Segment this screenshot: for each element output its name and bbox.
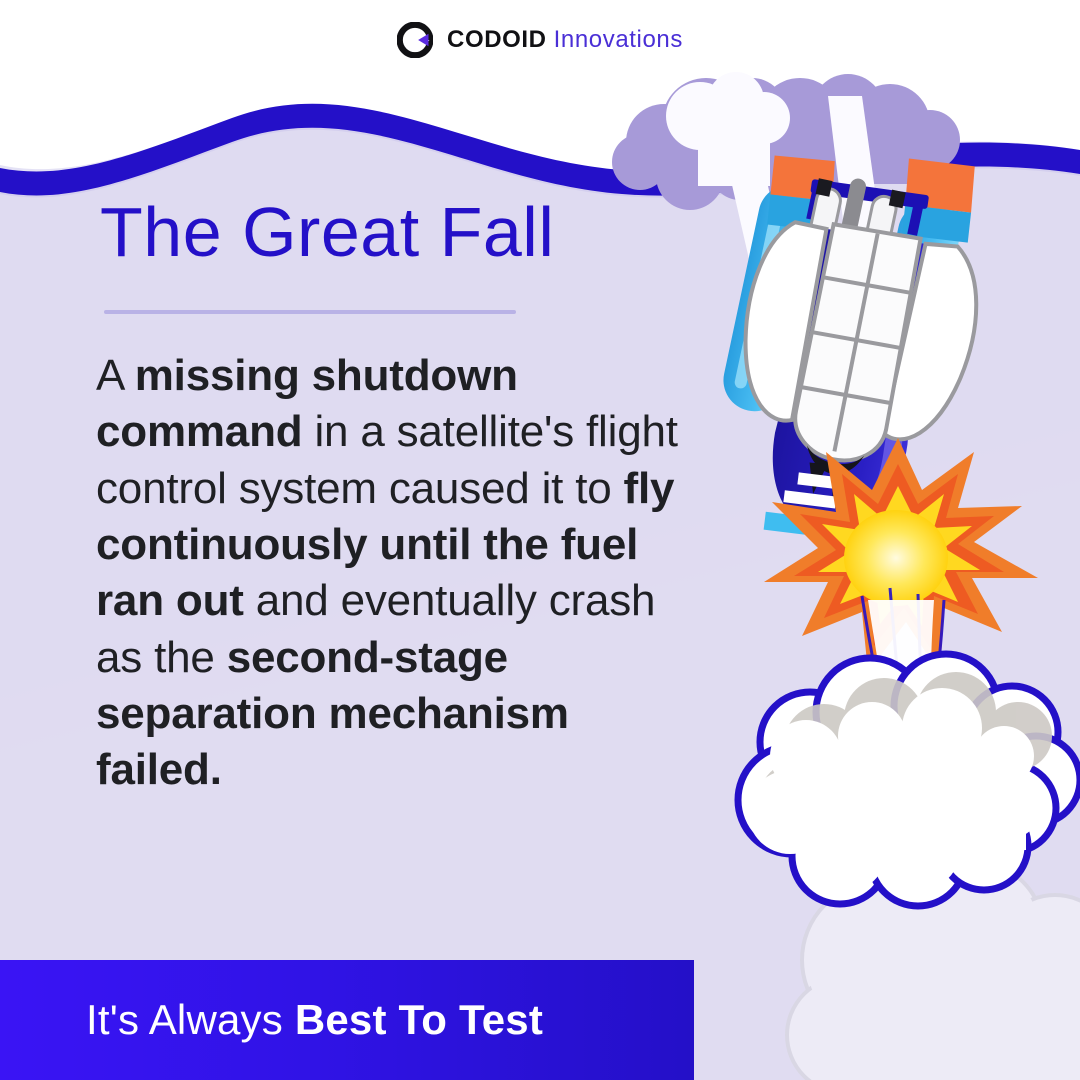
logo-name-codoid: CODOID bbox=[447, 26, 547, 53]
burst-core bbox=[844, 510, 948, 606]
body-paragraph: A missing shutdown command in a satellit… bbox=[96, 348, 706, 799]
logo-name-innovations: Innovations bbox=[554, 26, 683, 53]
tagline-banner: It's Always Best To Test bbox=[0, 960, 694, 1080]
brand-logo: CODOIDInnovations bbox=[0, 14, 1080, 66]
poster-canvas: CODOIDInnovations The Great Fall A missi… bbox=[0, 0, 1080, 1080]
page-title: The Great Fall bbox=[100, 196, 554, 270]
title-divider bbox=[104, 310, 516, 314]
logo-wordmark: CODOIDInnovations bbox=[447, 28, 683, 52]
tagline-text: It's Always Best To Test bbox=[86, 996, 543, 1044]
tagline-emphasis: Best To Test bbox=[295, 996, 543, 1043]
body-segment-0: A bbox=[96, 351, 135, 400]
tagline-prefix: It's Always bbox=[86, 996, 295, 1043]
codoid-c-arrow-logo bbox=[397, 22, 433, 58]
